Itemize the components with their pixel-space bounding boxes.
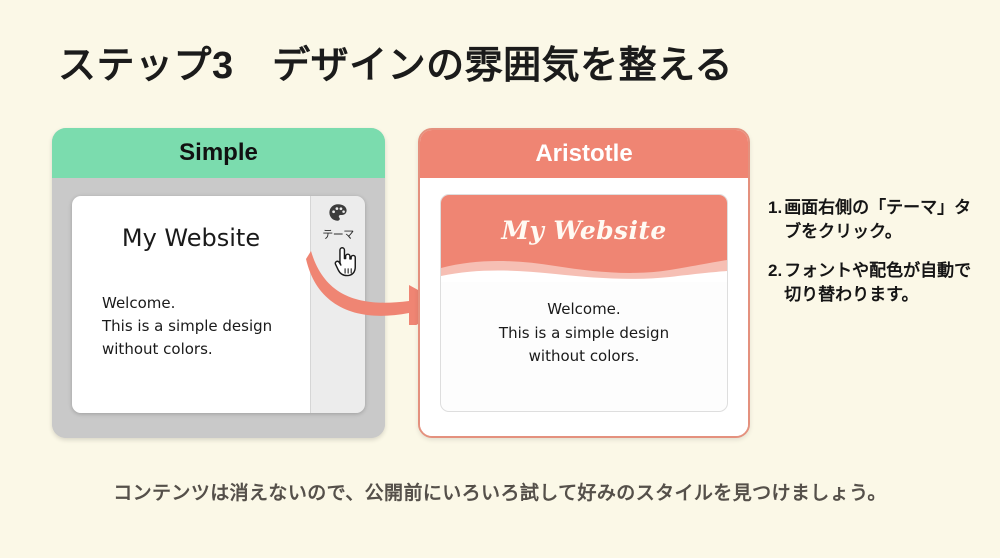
instruction-list: 1. 画面右側の「テーマ」タブをクリック。 2. フォントや配色が自動で切り替わ…	[768, 196, 983, 322]
footer-note: コンテンツは消えないので、公開前にいろいろ試して好みのスタイルを見つけましょう。	[0, 478, 1000, 505]
aristotle-theme-label: Aristotle	[535, 140, 632, 168]
aristotle-site-title: My Website	[441, 216, 727, 245]
instruction-number: 1.	[768, 196, 782, 245]
aristotle-theme-header: Aristotle	[420, 130, 748, 178]
simple-site-body-text: Welcome. This is a simple design without…	[102, 292, 300, 360]
instruction-text: フォントや配色が自動で切り替わります。	[784, 259, 983, 308]
page-title: ステップ3 デザインの雰囲気を整える	[58, 44, 733, 90]
instruction-item-2: 2. フォントや配色が自動で切り替わります。	[768, 259, 983, 308]
wave-divider-icon	[441, 252, 727, 282]
simple-site-title: My Website	[72, 224, 310, 252]
instruction-number: 2.	[768, 259, 782, 308]
aristotle-theme-panel: Aristotle My Website Welcome. This is a …	[418, 128, 750, 438]
aristotle-hero-banner: My Website	[441, 195, 727, 282]
theme-tab-button[interactable]: テーマ	[311, 202, 365, 243]
simple-theme-label: Simple	[179, 139, 258, 167]
theme-tab-label: テーマ	[322, 228, 354, 241]
aristotle-site-body-text: Welcome. This is a simple design without…	[441, 298, 727, 369]
palette-icon	[327, 202, 349, 224]
simple-page-preview: My Website Welcome. This is a simple des…	[72, 196, 310, 413]
instruction-text: 画面右側の「テーマ」タブをクリック。	[784, 196, 983, 245]
simple-theme-header: Simple	[52, 128, 385, 178]
aristotle-panel-body: My Website Welcome. This is a simple des…	[420, 178, 748, 436]
instruction-item-1: 1. 画面右側の「テーマ」タブをクリック。	[768, 196, 983, 245]
aristotle-browser-window: My Website Welcome. This is a simple des…	[440, 194, 728, 412]
